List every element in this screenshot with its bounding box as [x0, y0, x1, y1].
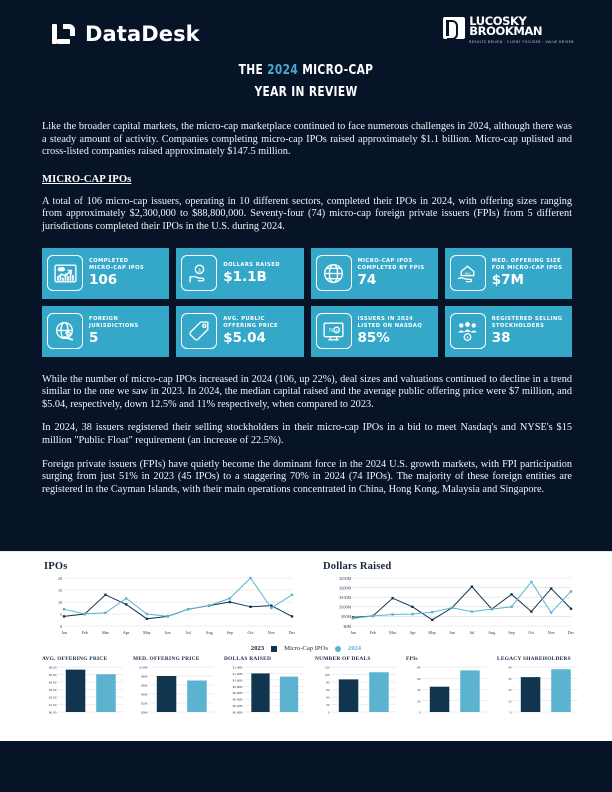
hand-house-icon: IPO	[450, 255, 486, 291]
chart-title: IPOs	[44, 561, 299, 572]
chart-med-offering-price: MED. OFFERING PRICE $0M$2M$4M$6M$8M$10M	[133, 656, 218, 715]
stat-value: $7M	[492, 273, 563, 288]
line-charts-row: IPOs 05101520JanFebMarAprMayJunJulAugSep…	[0, 551, 612, 642]
svg-text:Nov: Nov	[268, 630, 276, 635]
stat-label-line-2: LISTED ON NASDAQ	[358, 323, 423, 330]
title-suffix: MICRO-CAP	[298, 63, 373, 78]
report-title: THE 2024 MICRO-CAP YEAR IN REVIEW	[0, 60, 612, 104]
chart-fpis: FPIs 020406080	[406, 656, 491, 715]
svg-text:$5.00: $5.00	[49, 673, 57, 677]
svg-text:$1.20B: $1.20B	[233, 672, 244, 676]
stat-card-avg-public-offering-price[interactable]: AVG. PUBLIC OFFERING PRICE $5.04	[176, 306, 303, 357]
chart-title: FPIs	[406, 656, 491, 662]
chart-title: LEGACY SHAREHOLDERS	[497, 656, 582, 662]
svg-text:N: N	[329, 327, 334, 334]
svg-text:120: 120	[324, 666, 329, 670]
svg-text:Feb: Feb	[82, 630, 88, 635]
svg-text:$6.00: $6.00	[49, 666, 57, 670]
page-header: DataDesk LUCOSKY BROOKMAN RESULTS DRIVEN…	[0, 0, 612, 58]
svg-text:$3.00: $3.00	[49, 688, 57, 692]
svg-text:$0.00: $0.00	[49, 711, 57, 715]
title-prefix: THE	[239, 63, 268, 78]
stat-value: $5.04	[223, 331, 278, 346]
chart-title: MED. OFFERING PRICE	[133, 656, 218, 662]
chart-canvas-dollars-raised: $0M$50M$100M$150M$200M$250MJanFebMarAprM…	[323, 575, 575, 637]
hand-money-icon: $	[181, 255, 217, 291]
svg-text:$0.60B: $0.60B	[233, 691, 244, 695]
chart-canvas-legacy-shareholders: 010203040	[497, 665, 581, 715]
chart-canvas-avg-offering-price: $0.00$1.00$2.00$3.00$4.00$5.00$6.00	[42, 665, 126, 715]
legend-swatch-2023	[271, 646, 277, 652]
chart-dollars-raised: Dollars Raised $0M$50M$100M$150M$200M$25…	[323, 561, 578, 642]
article-body-lower: While the number of micro-cap IPOs incre…	[0, 357, 612, 497]
svg-text:20: 20	[326, 703, 330, 707]
svg-text:$150M: $150M	[339, 595, 351, 600]
svg-text:$: $	[336, 328, 338, 332]
svg-text:$200M: $200M	[339, 585, 351, 590]
stat-label-line-1: AVG. PUBLIC	[223, 316, 278, 323]
people-group-icon: $	[450, 313, 486, 349]
svg-text:$250M: $250M	[339, 576, 351, 581]
svg-text:$0M: $0M	[141, 711, 147, 715]
svg-text:60: 60	[417, 677, 421, 681]
analytics-panel: IPOs 05101520JanFebMarAprMayJunJulAugSep…	[0, 551, 612, 741]
stat-label-line-1: FOREIGN	[89, 316, 139, 323]
svg-text:40: 40	[326, 696, 330, 700]
svg-text:$2M: $2M	[141, 702, 147, 706]
report-page: DataDesk LUCOSKY BROOKMAN RESULTS DRIVEN…	[0, 0, 612, 792]
stat-label-line-2: FOR MICRO-CAP IPOS	[492, 265, 563, 272]
svg-text:IPO: IPO	[465, 271, 471, 275]
svg-text:Jul: Jul	[469, 630, 475, 635]
svg-text:Oct: Oct	[248, 630, 255, 635]
panel-divider	[0, 551, 612, 552]
svg-text:0: 0	[419, 711, 421, 715]
stat-cards-grid: COMPLETED MICRO-CAP IPOS 106 $ DOLLARS R…	[0, 248, 612, 357]
title-year: 2024	[267, 63, 298, 78]
lucosky-line-2: BROOKMAN	[469, 27, 574, 37]
svg-text:30: 30	[508, 677, 512, 681]
stat-label-line-1: MED. OFFERING SIZE	[492, 258, 563, 265]
stat-card-foreign-jurisdictions[interactable]: FOREIGN JURISDICTIONS 5	[42, 306, 169, 357]
paragraph-ipos: A total of 106 micro-cap issuers, operat…	[42, 196, 572, 234]
svg-text:10: 10	[58, 600, 62, 605]
price-tag-icon	[181, 313, 217, 349]
svg-text:20: 20	[508, 688, 512, 692]
svg-text:20: 20	[58, 576, 62, 581]
stat-card-registered-selling-stockholders[interactable]: $ REGISTERED SELLING STOCKHOLDERS 38	[445, 306, 572, 357]
svg-text:60: 60	[326, 688, 330, 692]
svg-text:May: May	[143, 630, 152, 635]
svg-text:$4.00: $4.00	[49, 681, 57, 685]
stat-label-line-1: ISSUERS IN 2024	[358, 316, 423, 323]
stat-card-completed-micro-cap-ipos[interactable]: COMPLETED MICRO-CAP IPOS 106	[42, 248, 169, 299]
stat-label-line-2: STOCKHOLDERS	[492, 323, 563, 330]
nasdaq-monitor-icon: N $	[316, 313, 352, 349]
chart-canvas-number-of-deals: 020406080100120	[315, 665, 399, 715]
stat-label-line-2: MICRO-CAP IPOS	[89, 265, 144, 272]
chart-avg-offering-price: AVG. OFFERING PRICE $0.00$1.00$2.00$3.00…	[42, 656, 127, 715]
chart-canvas-med-offering-price: $0M$2M$4M$6M$8M$10M	[133, 665, 217, 715]
chart-legend: 2023 Micro-Cap IPOs 2024	[0, 645, 612, 652]
svg-text:Jun: Jun	[449, 630, 456, 635]
globe-gavel-icon	[47, 313, 83, 349]
legend-swatch-2024	[335, 646, 341, 652]
globe-icon	[316, 255, 352, 291]
stat-label-line-1: COMPLETED	[89, 258, 144, 265]
svg-text:$: $	[198, 267, 201, 274]
chart-title: NUMBER OF DEALS	[315, 656, 400, 662]
paragraph-fpi: Foreign private issuers (FPIs) have quie…	[42, 459, 572, 497]
svg-text:Jun: Jun	[165, 630, 172, 635]
chart-dollars-raised-bar: DOLLAS RAISED $0.00B$0.20B$0.40B$0.60B$0…	[224, 656, 309, 715]
svg-text:Jan: Jan	[61, 630, 67, 635]
svg-text:$8M: $8M	[141, 675, 147, 679]
svg-text:20: 20	[417, 699, 421, 703]
legend-label-series: Micro-Cap IPOs	[284, 645, 328, 652]
svg-text:80: 80	[417, 666, 421, 670]
svg-text:80: 80	[326, 681, 330, 685]
stat-card-med-offering-size[interactable]: IPO MED. OFFERING SIZE FOR MICRO-CAP IPO…	[445, 248, 572, 299]
stat-card-ipos-by-fpis[interactable]: MICRO-CAP IPOS COMPLETED BY FPIS 74	[311, 248, 438, 299]
svg-text:Sep: Sep	[508, 630, 514, 635]
paragraph-public-float: In 2024, 38 issuers registered their sel…	[42, 422, 572, 447]
title-line-2: YEAR IN REVIEW	[55, 82, 557, 104]
legend-label-2024: 2024	[348, 645, 361, 652]
datadesk-wordmark: DataDesk	[85, 22, 200, 46]
chart-title: Dollars Raised	[323, 561, 578, 572]
svg-text:$0.00B: $0.00B	[233, 711, 244, 715]
svg-text:$0.40B: $0.40B	[233, 698, 244, 702]
chart-number-of-deals: NUMBER OF DEALS 020406080100120	[315, 656, 400, 715]
svg-text:$0M: $0M	[343, 624, 351, 629]
stat-value: 38	[492, 331, 563, 346]
svg-text:Dec: Dec	[289, 630, 296, 635]
svg-text:$50M: $50M	[341, 614, 351, 619]
stat-label-line-1: REGISTERED SELLING	[492, 316, 563, 323]
stat-card-dollars-raised[interactable]: $ DOLLARS RAISED $1.1B	[176, 248, 303, 299]
paragraph-trend: While the number of micro-cap IPOs incre…	[42, 374, 572, 412]
chart-title: AVG. OFFERING PRICE	[42, 656, 127, 662]
chart-legacy-shareholders: LEGACY SHAREHOLDERS 010203040	[497, 656, 582, 715]
stat-card-listed-on-nasdaq[interactable]: N $ ISSUERS IN 2024 LISTED ON NASDAQ 85%	[311, 306, 438, 357]
stat-value: 106	[89, 273, 144, 288]
svg-text:$2.00: $2.00	[49, 696, 57, 700]
svg-text:15: 15	[58, 588, 62, 593]
datadesk-logo-icon	[52, 22, 76, 46]
stat-value: 74	[358, 273, 425, 288]
datadesk-logo: DataDesk	[52, 22, 200, 46]
svg-text:Sep: Sep	[227, 630, 233, 635]
svg-text:$10M: $10M	[139, 666, 147, 670]
svg-text:Feb: Feb	[370, 630, 376, 635]
stat-value: 5	[89, 331, 139, 346]
svg-text:0: 0	[60, 624, 62, 629]
chart-canvas-fpis: 020406080	[406, 665, 490, 715]
lucosky-monogram-icon	[443, 17, 465, 39]
stat-label-line-1: MICRO-CAP IPOS	[358, 258, 425, 265]
svg-text:Jan: Jan	[350, 630, 356, 635]
svg-text:$0.20B: $0.20B	[233, 704, 244, 708]
svg-text:40: 40	[417, 688, 421, 692]
svg-text:$4M: $4M	[141, 693, 147, 697]
lucosky-tagline: RESULTS DRIVEN · CLIENT FOCUSED · VALUE …	[469, 38, 574, 48]
stat-label-line-2: JURISDICTIONS	[89, 323, 139, 330]
bar-charts-row: AVG. OFFERING PRICE $0.00$1.00$2.00$3.00…	[0, 652, 612, 715]
svg-text:0: 0	[328, 711, 330, 715]
title-line-1: THE 2024 MICRO-CAP	[55, 60, 557, 82]
svg-text:Apr: Apr	[409, 630, 416, 635]
chart-ipos: IPOs 05101520JanFebMarAprMayJunJulAugSep…	[44, 561, 299, 642]
svg-text:$0.80B: $0.80B	[233, 685, 244, 689]
svg-text:40: 40	[508, 666, 512, 670]
svg-text:Mar: Mar	[102, 630, 110, 635]
svg-text:Apr: Apr	[123, 630, 130, 635]
svg-text:Nov: Nov	[548, 630, 556, 635]
svg-text:Aug: Aug	[488, 630, 496, 635]
article-body: Like the broader capital markets, the mi…	[0, 104, 612, 234]
svg-text:Aug: Aug	[205, 630, 213, 635]
stat-value: 85%	[358, 331, 423, 346]
stat-label-line-1: DOLLARS RAISED	[223, 262, 280, 269]
svg-text:Dec: Dec	[568, 630, 575, 635]
intro-paragraph: Like the broader capital markets, the mi…	[42, 121, 572, 159]
svg-text:$: $	[467, 335, 469, 340]
svg-text:Mar: Mar	[389, 630, 397, 635]
svg-text:$1.00: $1.00	[49, 703, 57, 707]
svg-text:Jul: Jul	[186, 630, 192, 635]
svg-text:Oct: Oct	[528, 630, 535, 635]
stat-value: $1.1B	[223, 270, 280, 285]
stat-label-line-2: OFFERING PRICE	[223, 323, 278, 330]
svg-text:5: 5	[60, 612, 62, 617]
section-heading-micro-cap-ipos: MICRO-CAP IPOs	[42, 174, 572, 185]
stat-label-line-2: COMPLETED BY FPIS	[358, 265, 425, 272]
svg-text:$6M: $6M	[141, 684, 147, 688]
svg-text:May: May	[428, 630, 437, 635]
chart-title: DOLLAS RAISED	[224, 656, 309, 662]
lucosky-brookman-logo: LUCOSKY BROOKMAN RESULTS DRIVEN · CLIENT…	[443, 17, 574, 48]
svg-text:$1.40B: $1.40B	[233, 666, 244, 670]
svg-text:10: 10	[508, 699, 512, 703]
svg-text:$100M: $100M	[339, 605, 351, 610]
page-footer	[0, 752, 612, 792]
chart-canvas-dollars-raised-bar: $0.00B$0.20B$0.40B$0.60B$0.80B$1.00B$1.2…	[224, 665, 308, 715]
chart-canvas-ipos: 05101520JanFebMarAprMayJunJulAugSepOctNo…	[44, 575, 296, 637]
legend-label-2023: 2023	[251, 645, 264, 652]
svg-text:100: 100	[324, 673, 329, 677]
ipo-chart-icon	[47, 255, 83, 291]
svg-text:$1.00B: $1.00B	[233, 678, 244, 682]
svg-text:0: 0	[510, 711, 512, 715]
